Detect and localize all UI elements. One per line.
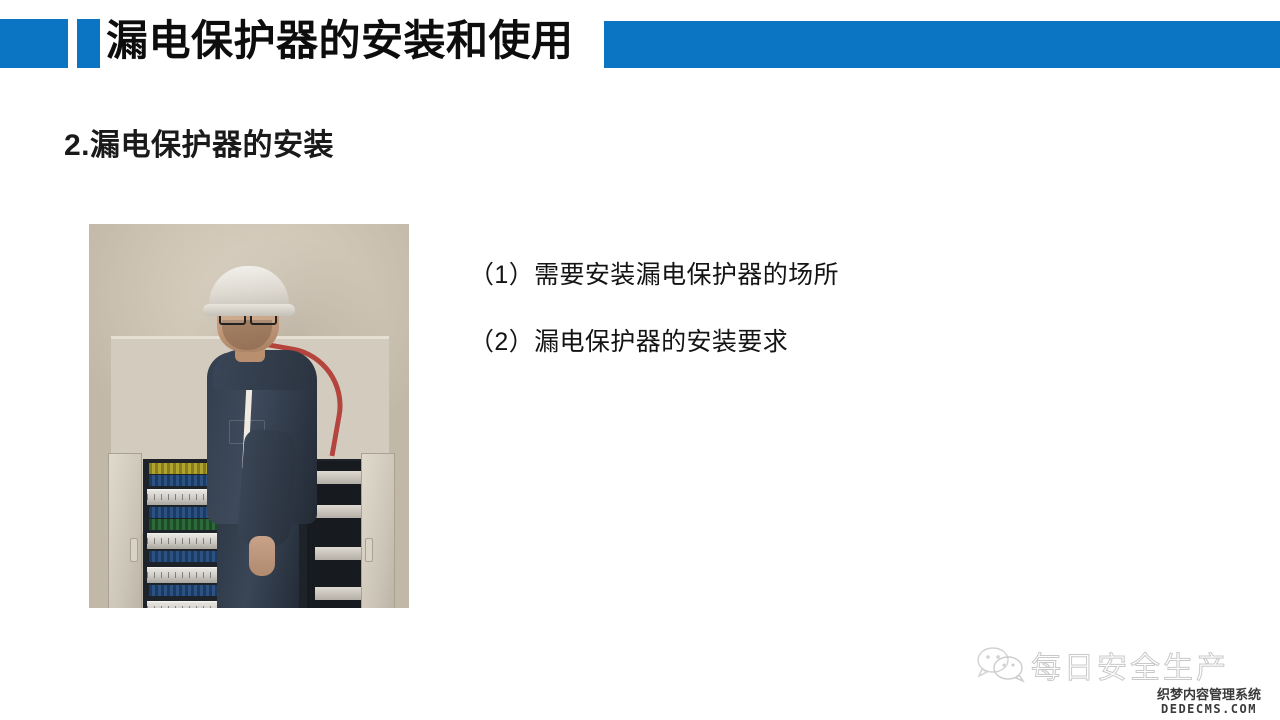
body-line-1: （1）需要安装漏电保护器的场所 [469, 255, 839, 291]
header-accent-bar-right [604, 21, 1280, 68]
photo-person-arm [237, 428, 297, 547]
photo-person-hand [249, 536, 275, 576]
section-subtitle: 2.漏电保护器的安装 [64, 120, 334, 164]
photo-electrician [89, 224, 409, 608]
body-line-2: （2）漏电保护器的安装要求 [469, 322, 788, 358]
header-accent-block-tick [77, 19, 100, 68]
wechat-watermark-text: 每日安全生产 [1031, 643, 1229, 687]
page-title: 漏电保护器的安装和使用 [106, 10, 574, 72]
photo-person-shoulder [213, 350, 317, 390]
dedecms-watermark-en: DEDECMS.COM [1146, 702, 1272, 716]
dedecms-watermark: 织梦内容管理系统 DEDECMS.COM [1146, 688, 1272, 716]
photo-helmet-brim [203, 304, 295, 316]
wechat-icon [975, 646, 1027, 684]
wechat-watermark: 每日安全生产 [975, 643, 1235, 685]
slide-header: 漏电保护器的安装和使用 [0, 0, 1280, 90]
dedecms-watermark-cn: 织梦内容管理系统 [1146, 688, 1272, 702]
header-accent-block-left [0, 19, 68, 68]
electrician-photo [89, 224, 409, 608]
